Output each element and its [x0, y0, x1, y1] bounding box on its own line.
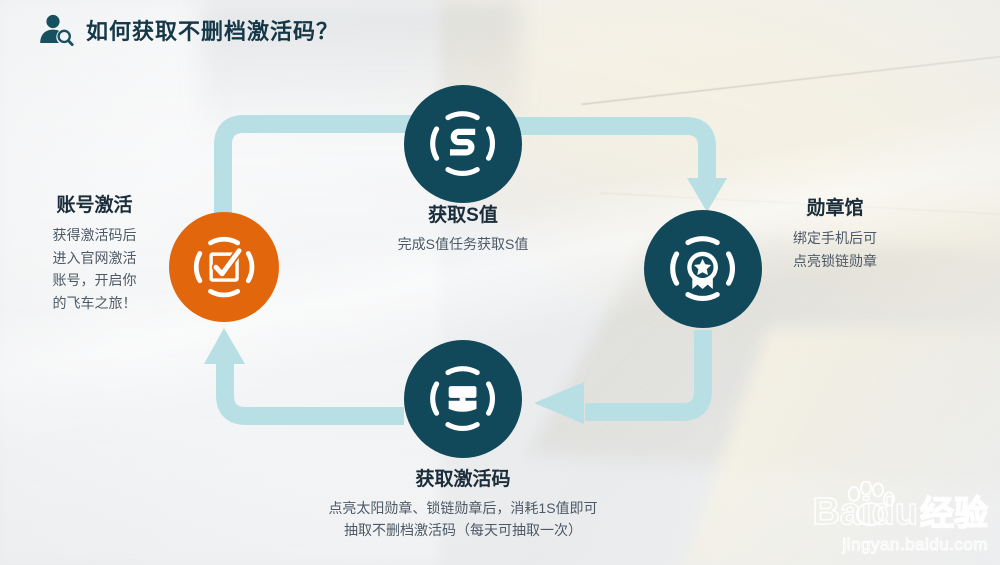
checkbox-pen-icon	[190, 233, 258, 301]
node-desc-line: 完成S值任务获取S值	[320, 234, 606, 256]
node-desc-line: 点亮太阳勋章、锁链勋章后，消耗1S值即可	[230, 498, 696, 520]
label-get-activation-code: 获取激活码 点亮太阳勋章、锁链勋章后，消耗1S值即可 抽取不删档激活码（每天可抽…	[230, 464, 696, 541]
page-title: 如何获取不删档激活码？	[86, 14, 339, 46]
page-header: 如何获取不删档激活码？	[36, 10, 339, 50]
medal-icon	[666, 232, 739, 305]
node-desc-line: 的飞车之旅！	[12, 292, 177, 315]
node-account-activation[interactable]	[169, 212, 279, 322]
node-get-s-value[interactable]	[404, 85, 522, 203]
treasure-box-icon	[426, 362, 499, 435]
slide-canvas: 如何获取不删档激活码？	[0, 0, 1000, 565]
node-title: 获取激活码	[230, 464, 696, 491]
watermark-brand-cn: 经验	[920, 497, 988, 531]
label-account-activation: 账号激活 获得激活码后 进入官网激活 账号，开启你 的飞车之旅！	[12, 190, 177, 315]
watermark-url: jingyan.baidu.com	[740, 535, 988, 555]
node-get-activation-code[interactable]	[404, 340, 522, 458]
node-title: 获取S值	[320, 200, 606, 227]
s-value-icon	[426, 107, 499, 180]
baidu-watermark: Baidu 经验 jingyan.baidu.com	[740, 493, 988, 555]
label-medal-hall: 勋章馆 绑定手机后可 点亮锁链勋章	[740, 193, 930, 272]
paw-icon	[844, 481, 896, 527]
node-desc-line: 点亮锁链勋章	[740, 250, 930, 273]
user-search-icon	[36, 10, 76, 50]
label-get-s-value: 获取S值 完成S值任务获取S值	[320, 200, 606, 256]
node-desc-line: 抽取不删档激活码（每天可抽取一次）	[230, 520, 696, 542]
node-title: 账号激活	[12, 190, 177, 217]
node-title: 勋章馆	[740, 193, 930, 220]
node-desc-line: 进入官网激活	[12, 247, 177, 270]
node-desc-line: 绑定手机后可	[740, 227, 930, 250]
node-desc-line: 获得激活码后	[12, 224, 177, 247]
node-desc-line: 账号，开启你	[12, 269, 177, 292]
